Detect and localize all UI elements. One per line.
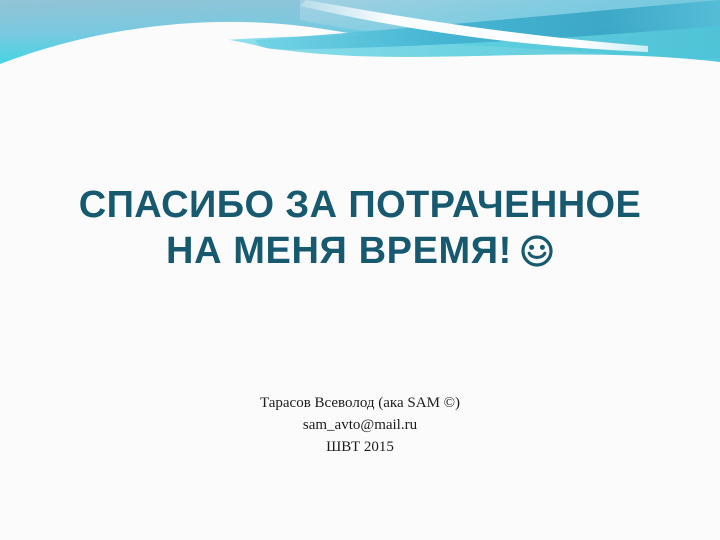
- title-line-2: НА МЕНЯ ВРЕМЯ!: [166, 230, 512, 272]
- wave-base-shape: [0, 0, 720, 72]
- wave-foreground-white: [0, 41, 720, 120]
- signature-block: Тарасов Всеволод (ака SAM ©) sam_avto@ma…: [36, 392, 684, 458]
- wave-right-field: [300, 0, 720, 68]
- signature-author: Тарасов Всеволод (ака SAM ©): [36, 392, 684, 414]
- slide-title: СПАСИБО ЗА ПОТРАЧЕННОЕ НА МЕНЯ ВРЕМЯ!: [36, 182, 684, 274]
- wave-white-ribbon: [300, 0, 648, 52]
- decorative-wave-banner: [0, 0, 720, 120]
- wave-crest-highlight: [0, 34, 400, 120]
- wave-lower-band: [150, 22, 720, 65]
- wave-dark-band: [255, 0, 720, 50]
- smiley-face-icon: [520, 234, 554, 268]
- title-line-1: СПАСИБО ЗА ПОТРАЧЕННОЕ: [36, 182, 684, 228]
- presentation-slide: СПАСИБО ЗА ПОТРАЧЕННОЕ НА МЕНЯ ВРЕМЯ! Та…: [0, 0, 720, 540]
- title-line-2-row: НА МЕНЯ ВРЕМЯ!: [36, 228, 684, 274]
- signature-affiliation: ШВТ 2015: [36, 436, 684, 458]
- signature-email[interactable]: sam_avto@mail.ru: [36, 414, 684, 436]
